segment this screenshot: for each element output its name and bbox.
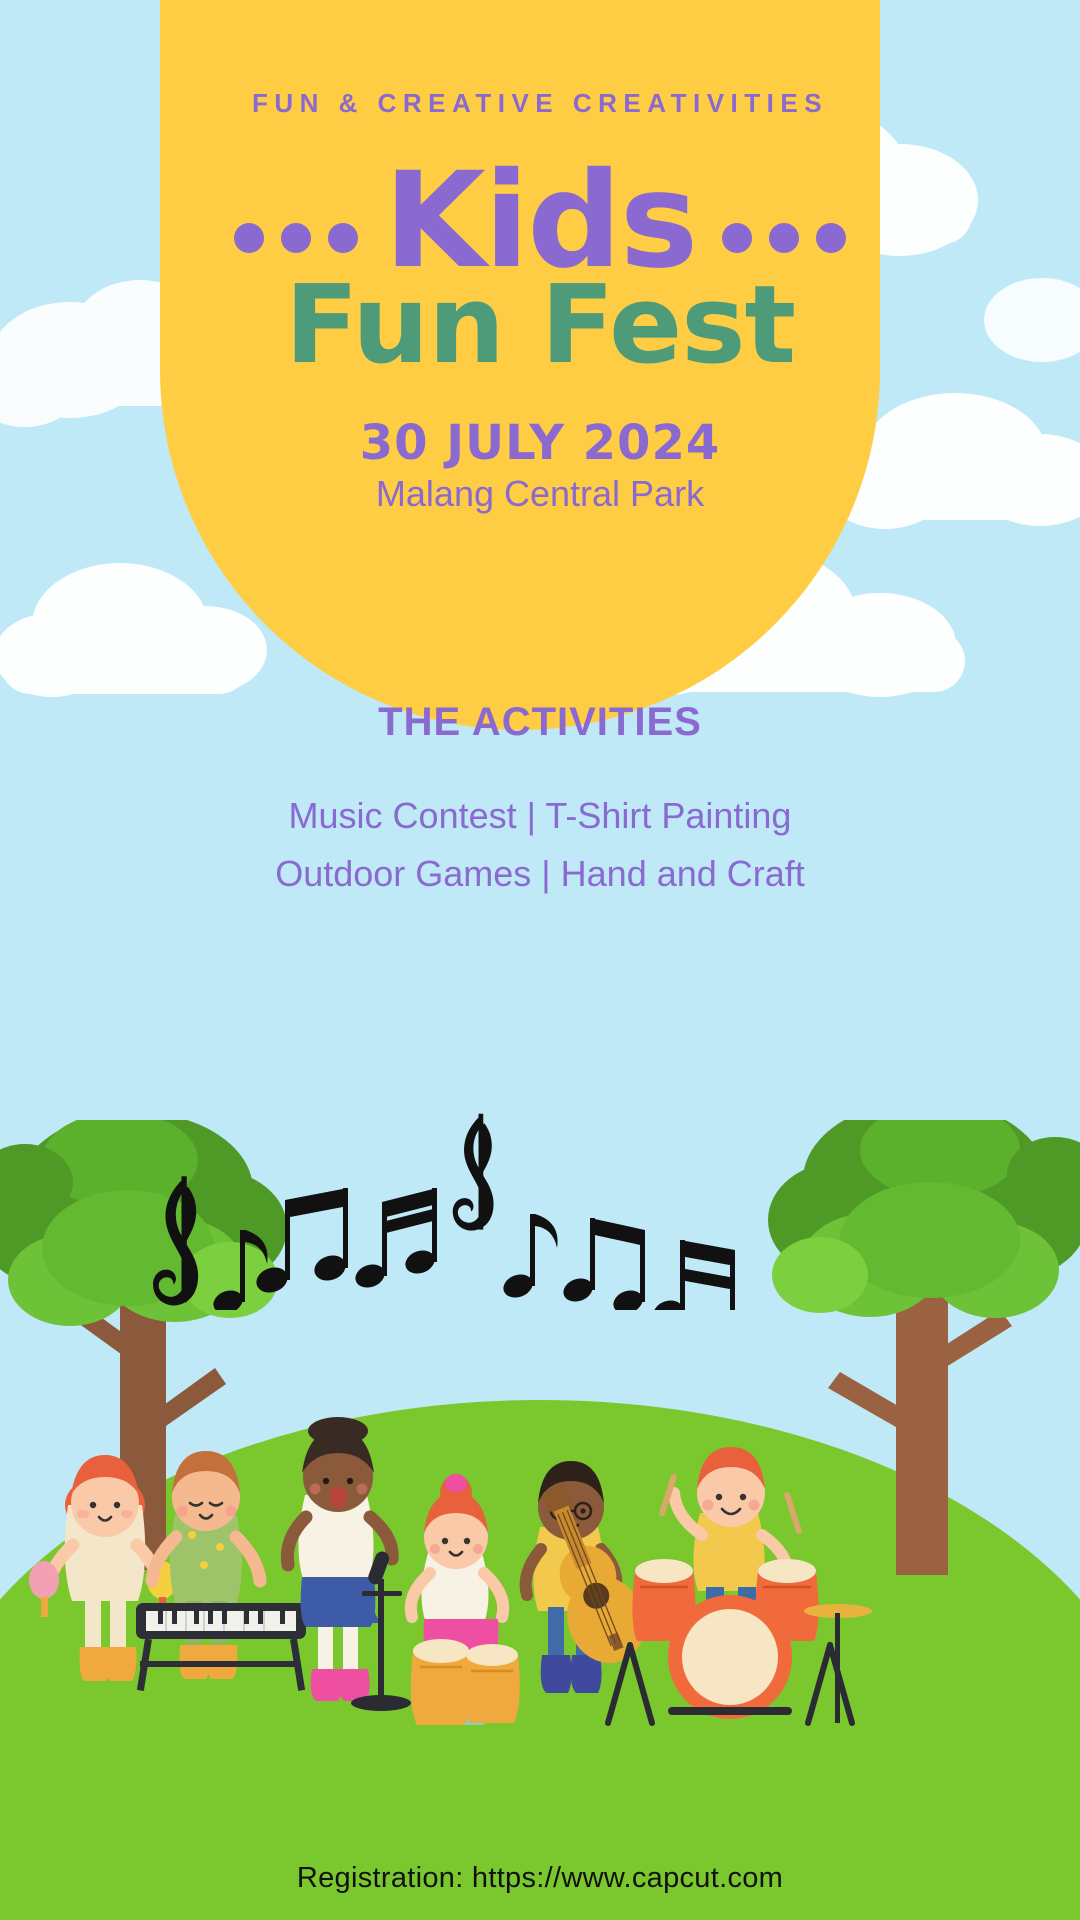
event-date: 30 JULY 2024 (0, 415, 1080, 471)
event-location: Malang Central Park (0, 473, 1080, 515)
activities-heading: THE ACTIVITIES (0, 700, 1080, 745)
cloud-bottom-left (0, 563, 267, 697)
dots-left-decoration (234, 189, 358, 253)
kid-girl-with-bongo-drums (411, 1474, 520, 1725)
kid-boy-at-drum-kit (608, 1447, 872, 1723)
registration-link[interactable]: Registration: https://www.capcut.com (0, 1862, 1080, 1895)
tagline: FUN & CREATIVE CREATIVITIES (0, 88, 1080, 119)
poster-canvas: FUN & CREATIVE CREATIVITIES Kids Fun Fes… (0, 0, 1080, 1920)
kid-girl-singer-with-microphone (287, 1417, 411, 1711)
dots-right-decoration (722, 189, 846, 253)
activities-line-2: Outdoor Games | Hand and Craft (0, 853, 1080, 895)
kids-band-illustration (0, 1255, 1080, 1855)
page-subtitle: Fun Fest (0, 272, 1080, 380)
activities-line-1: Music Contest | T-Shirt Painting (0, 795, 1080, 837)
bongo-drums (411, 1639, 520, 1725)
activities-section: THE ACTIVITIES Music Contest | T-Shirt P… (0, 700, 1080, 895)
treble-clef-icon-2 (453, 1114, 494, 1231)
